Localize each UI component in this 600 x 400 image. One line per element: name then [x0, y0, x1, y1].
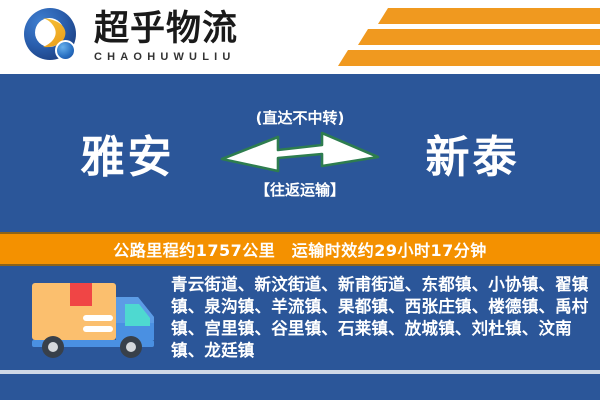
circle-crescent-logo-icon — [22, 6, 84, 68]
header: 超乎物流 CHAOHUWULIU — [0, 0, 600, 74]
footer-bar — [0, 374, 600, 400]
logo-dot-shape — [55, 40, 76, 61]
brand-logo: 超乎物流 CHAOHUWULIU — [22, 6, 238, 68]
distance-duration-text: 公路里程约1757公里 运输时效约29小时17分钟 — [113, 237, 487, 261]
double-arrow-icon — [220, 131, 380, 173]
brand-name-en: CHAOHUWULIU — [94, 52, 238, 63]
brand-name-block: 超乎物流 CHAOHUWULIU — [94, 12, 238, 63]
destination-city: 新泰 — [391, 121, 554, 185]
route-note-bottom: 【往返运输】 — [255, 179, 345, 200]
logistics-route-banner: 超乎物流 CHAOHUWULIU 雅安 (直达不中转) 【往返运输】 新泰 公路… — [0, 0, 600, 400]
coverage-section: 青云街道、新汶街道、新甫街道、东都镇、小协镇、翟镇镇、泉沟镇、羊流镇、果都镇、西… — [0, 266, 600, 370]
route-note-top: (直达不中转) — [256, 107, 345, 128]
orange-stripes-decoration — [300, 8, 600, 66]
origin-city: 雅安 — [46, 121, 209, 185]
brand-name-cn: 超乎物流 — [94, 12, 238, 47]
distance-duration-bar: 公路里程约1757公里 运输时效约29小时17分钟 — [0, 232, 600, 266]
delivery-truck-icon — [26, 273, 161, 366]
coverage-areas-text: 青云街道、新汶街道、新甫街道、东都镇、小协镇、翟镇镇、泉沟镇、羊流镇、果都镇、西… — [171, 274, 592, 362]
route-section: 雅安 (直达不中转) 【往返运输】 新泰 — [0, 74, 600, 232]
route-arrow-block: (直达不中转) 【往返运输】 — [209, 93, 391, 213]
